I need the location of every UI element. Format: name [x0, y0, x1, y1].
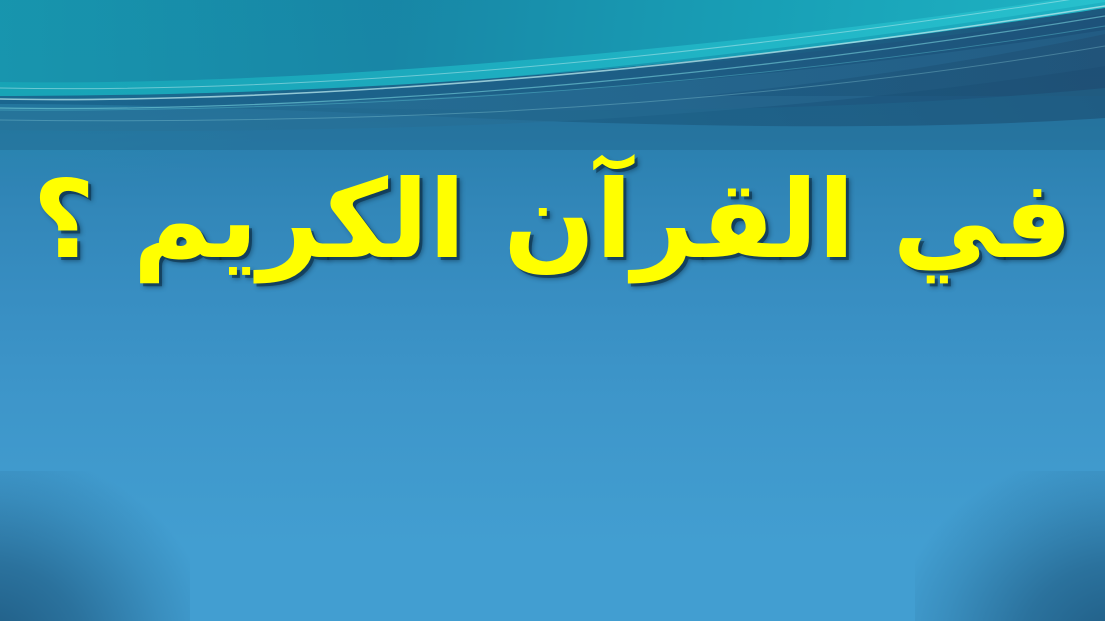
- slide-canvas: من أكثر الأنبياء ذكرا في القرآن الكريم ؟: [0, 0, 1105, 621]
- slide-title: من أكثر الأنبياء ذكرا في القرآن الكريم ؟: [33, 136, 1073, 295]
- slide-title-line-2: في القرآن الكريم ؟: [33, 146, 1073, 295]
- slide-content: من أكثر الأنبياء ذكرا في القرآن الكريم ؟: [0, 0, 1105, 621]
